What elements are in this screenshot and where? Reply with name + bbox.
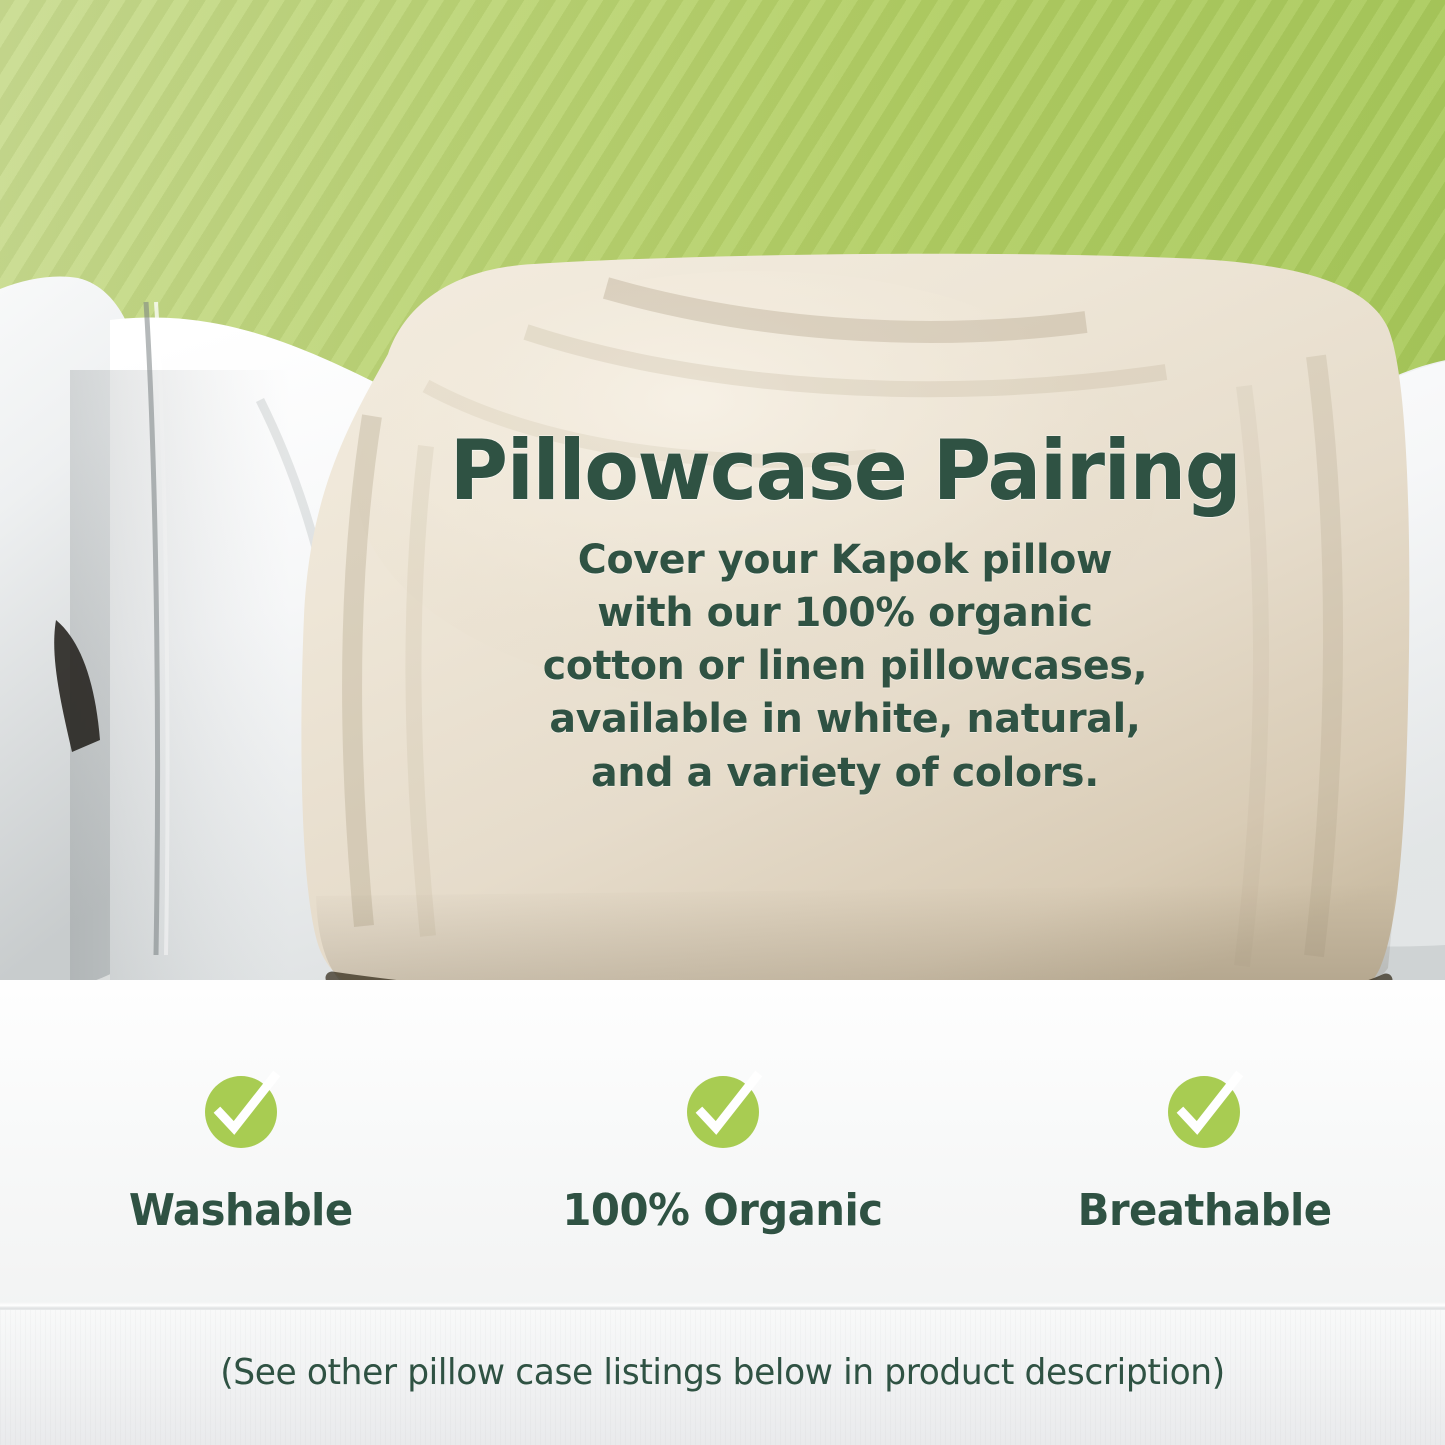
page-title: Pillowcase Pairing <box>351 430 1340 511</box>
check-circle-icon <box>686 1075 760 1149</box>
pillow-text-block: Pillowcase Pairing Cover your Kapok pill… <box>330 430 1360 799</box>
feature-item-washable: Washable <box>0 1075 482 1233</box>
description-text: Cover your Kapok pillow with our 100% or… <box>343 533 1347 798</box>
description-line: and a variety of colors. <box>343 746 1347 799</box>
feature-item-organic: 100% Organic <box>482 1075 964 1233</box>
check-circle-icon <box>1167 1075 1241 1149</box>
feature-badge-row: Washable 100% Organic Breathable <box>0 1075 1445 1233</box>
bottom-caption: (See other pillow case listings below in… <box>22 1355 1424 1391</box>
feature-label: Washable <box>129 1189 353 1233</box>
feature-item-breathable: Breathable <box>963 1075 1445 1233</box>
product-infographic: Pillowcase Pairing Cover your Kapok pill… <box>0 0 1445 1445</box>
description-line: with our 100% organic <box>343 586 1347 639</box>
check-circle-icon <box>204 1075 278 1149</box>
description-line: cotton or linen pillowcases, <box>343 639 1347 692</box>
feature-label: Breathable <box>1077 1189 1331 1233</box>
description-line: available in white, natural, <box>343 692 1347 745</box>
description-line: Cover your Kapok pillow <box>343 533 1347 586</box>
feature-label: 100% Organic <box>562 1189 882 1233</box>
